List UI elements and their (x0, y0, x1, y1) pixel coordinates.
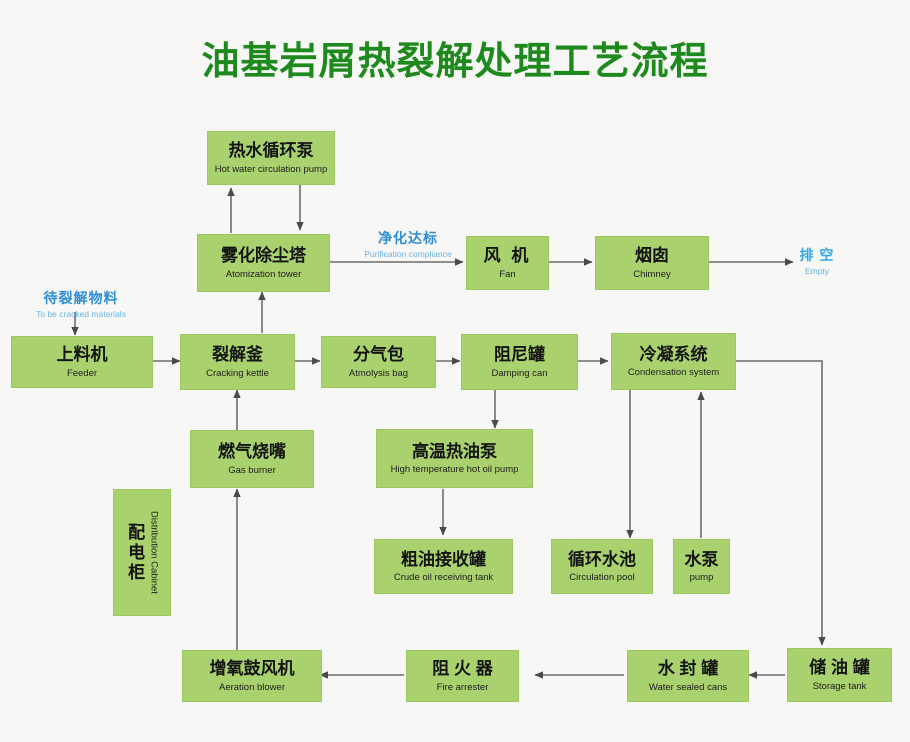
node-hot-water-circulation-pump[interactable]: 热水循环泵 Hot water circulation pump (207, 131, 335, 185)
node-circulation-pool[interactable]: 循环水池 Circulation pool (551, 539, 653, 594)
node-storage-tank[interactable]: 储 油 罐 Storage tank (787, 648, 892, 702)
node-damping-can[interactable]: 阻尼罐 Damping can (461, 334, 578, 390)
node-aeration-blower[interactable]: 增氧鼓风机 Aeration blower (182, 650, 322, 702)
node-water-pump[interactable]: 水泵 pump (673, 539, 730, 594)
node-atmolysis-bag[interactable]: 分气包 Atmolysis bag (321, 336, 436, 388)
node-distribution-cabinet[interactable]: 配电柜 Distribution Cabinet (113, 489, 171, 616)
label-empty: 排 空 Empty (772, 245, 862, 276)
node-chimney[interactable]: 烟囱 Chimney (595, 236, 709, 290)
node-gas-burner[interactable]: 燃气烧嘴 Gas burner (190, 430, 314, 488)
node-condensation-system[interactable]: 冷凝系统 Condensation system (611, 333, 736, 390)
node-feeder[interactable]: 上料机 Feeder (11, 336, 153, 388)
node-fan[interactable]: 风 机 Fan (466, 236, 549, 290)
node-water-sealed-cans[interactable]: 水 封 罐 Water sealed cans (627, 650, 749, 702)
label-to-be-cracked-materials: 待裂解物料 To be cracked materials (22, 288, 140, 319)
node-atomization-tower[interactable]: 雾化除尘塔 Atomization tower (197, 234, 330, 292)
page-title: 油基岩屑热裂解处理工艺流程 (0, 30, 910, 85)
node-crude-oil-receiving-tank[interactable]: 粗油接收罐 Crude oil receiving tank (374, 539, 513, 594)
node-high-temperature-hot-oil-pump[interactable]: 高温热油泵 High temperature hot oil pump (376, 429, 533, 488)
flowchart-canvas: 油基岩屑热裂解处理工艺流程 (0, 0, 910, 742)
node-fire-arrester[interactable]: 阻 火 器 Fire arrester (406, 650, 519, 702)
node-cracking-kettle[interactable]: 裂解釜 Cracking kettle (180, 334, 295, 390)
label-purification: 净化达标 Purification compliance (348, 228, 468, 259)
